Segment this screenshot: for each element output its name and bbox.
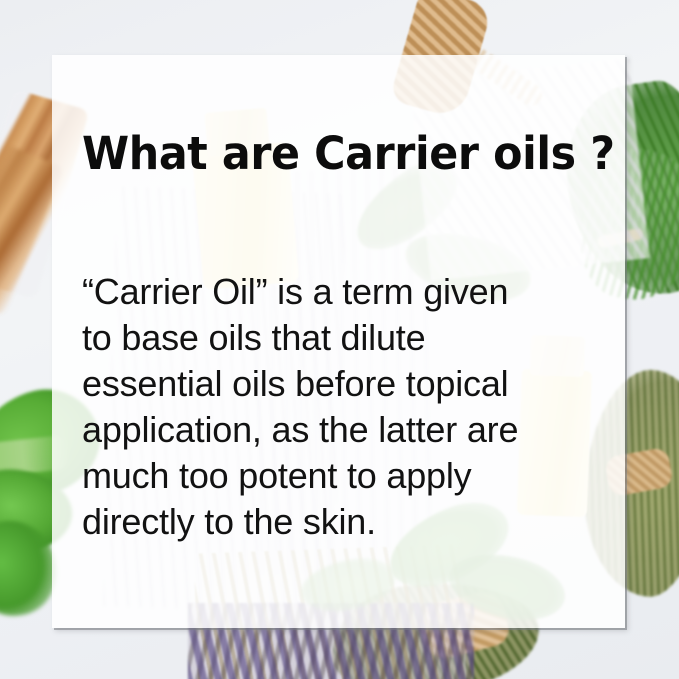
body-line: to base oils that dilute (82, 315, 602, 361)
text-overlay-card: What are Carrier oils ? “Carrier Oil” is… (52, 55, 625, 628)
body-line: application, as the latter are (82, 407, 602, 453)
infographic-canvas: What are Carrier oils ? “Carrier Oil” is… (0, 0, 679, 679)
body-line: directly to the skin. (82, 499, 602, 545)
body-paragraph: “Carrier Oil” is a term given to base oi… (82, 269, 602, 545)
card-content: What are Carrier oils ? “Carrier Oil” is… (52, 55, 625, 628)
body-line: essential oils before topical (82, 361, 602, 407)
page-title: What are Carrier oils ? (82, 127, 615, 180)
body-line: “Carrier Oil” is a term given (82, 269, 602, 315)
body-line: much too potent to apply (82, 453, 602, 499)
